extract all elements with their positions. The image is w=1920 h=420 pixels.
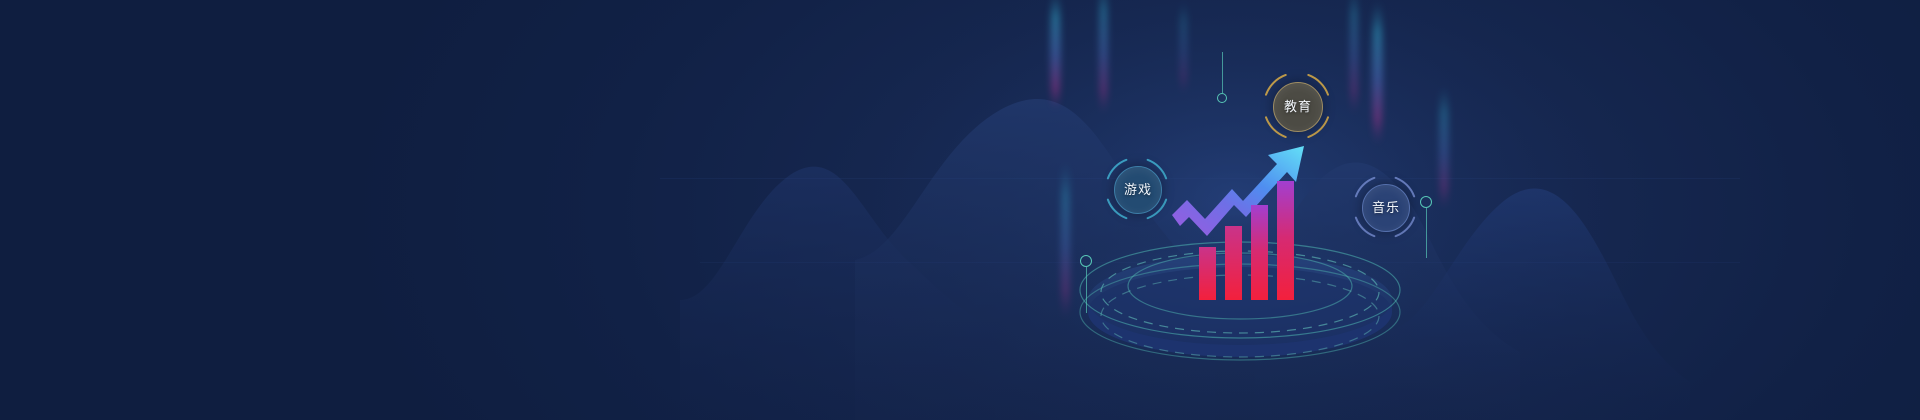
node-left-stem	[1086, 267, 1087, 313]
hero-banner: 教育游戏音乐	[0, 0, 1920, 420]
connector-nodes	[0, 0, 1920, 420]
node-right-dot-icon[interactable]	[1420, 196, 1432, 208]
node-top-dot-icon[interactable]	[1217, 93, 1227, 103]
node-top-stem	[1222, 52, 1223, 93]
node-right-stem	[1426, 208, 1427, 258]
node-left-dot-icon[interactable]	[1080, 255, 1092, 267]
